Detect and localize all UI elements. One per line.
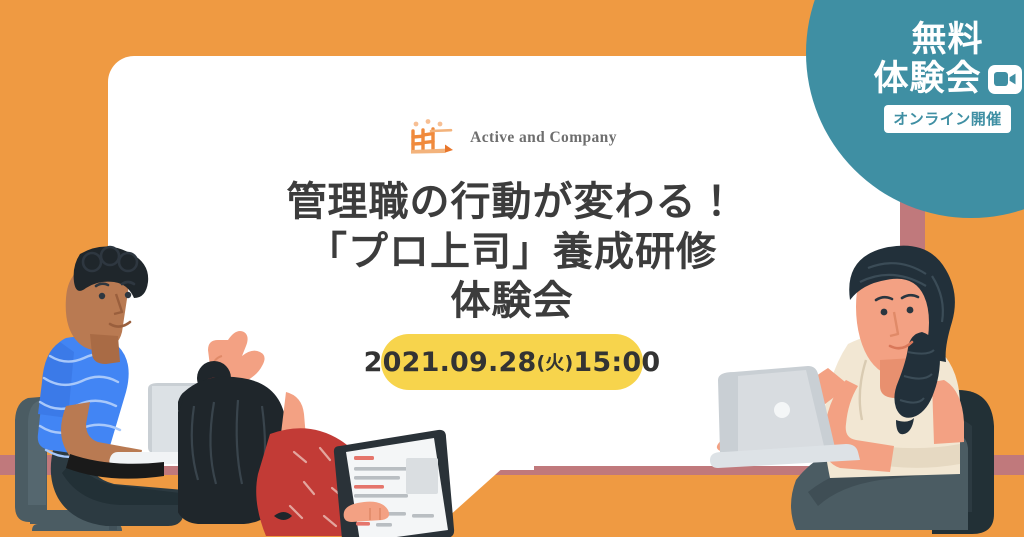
event-time: 15:00 (573, 347, 660, 378)
event-date-badge: 2021.09.28(火)15:00 (381, 334, 643, 390)
seminar-banner: 無料 体験会 オンライン開催 (0, 0, 1024, 537)
page-title: 管理職の行動が変わる！ 「プロ上司」養成研修 体験会 (0, 178, 1024, 327)
video-camera-icon (988, 65, 1022, 94)
event-date-text: 2021.09.28(火)15:00 (364, 347, 661, 378)
event-weekday: (火) (536, 352, 573, 374)
badge-line-1: 無料 (911, 22, 983, 59)
logo: Active and Company (0, 118, 1024, 158)
headline-line-1: 管理職の行動が変わる！ (0, 178, 1024, 228)
ladder-steps-logo-icon (407, 119, 459, 157)
event-date: 2021.09.28 (364, 347, 537, 378)
badge-line-2: 体験会 (873, 61, 981, 98)
brand-name: Active and Company (470, 129, 617, 147)
headline-line-3: 体験会 (0, 277, 1024, 327)
headline-line-2: 「プロ上司」養成研修 (0, 228, 1024, 278)
badge-line-2-row: 体験会 (873, 61, 1021, 98)
